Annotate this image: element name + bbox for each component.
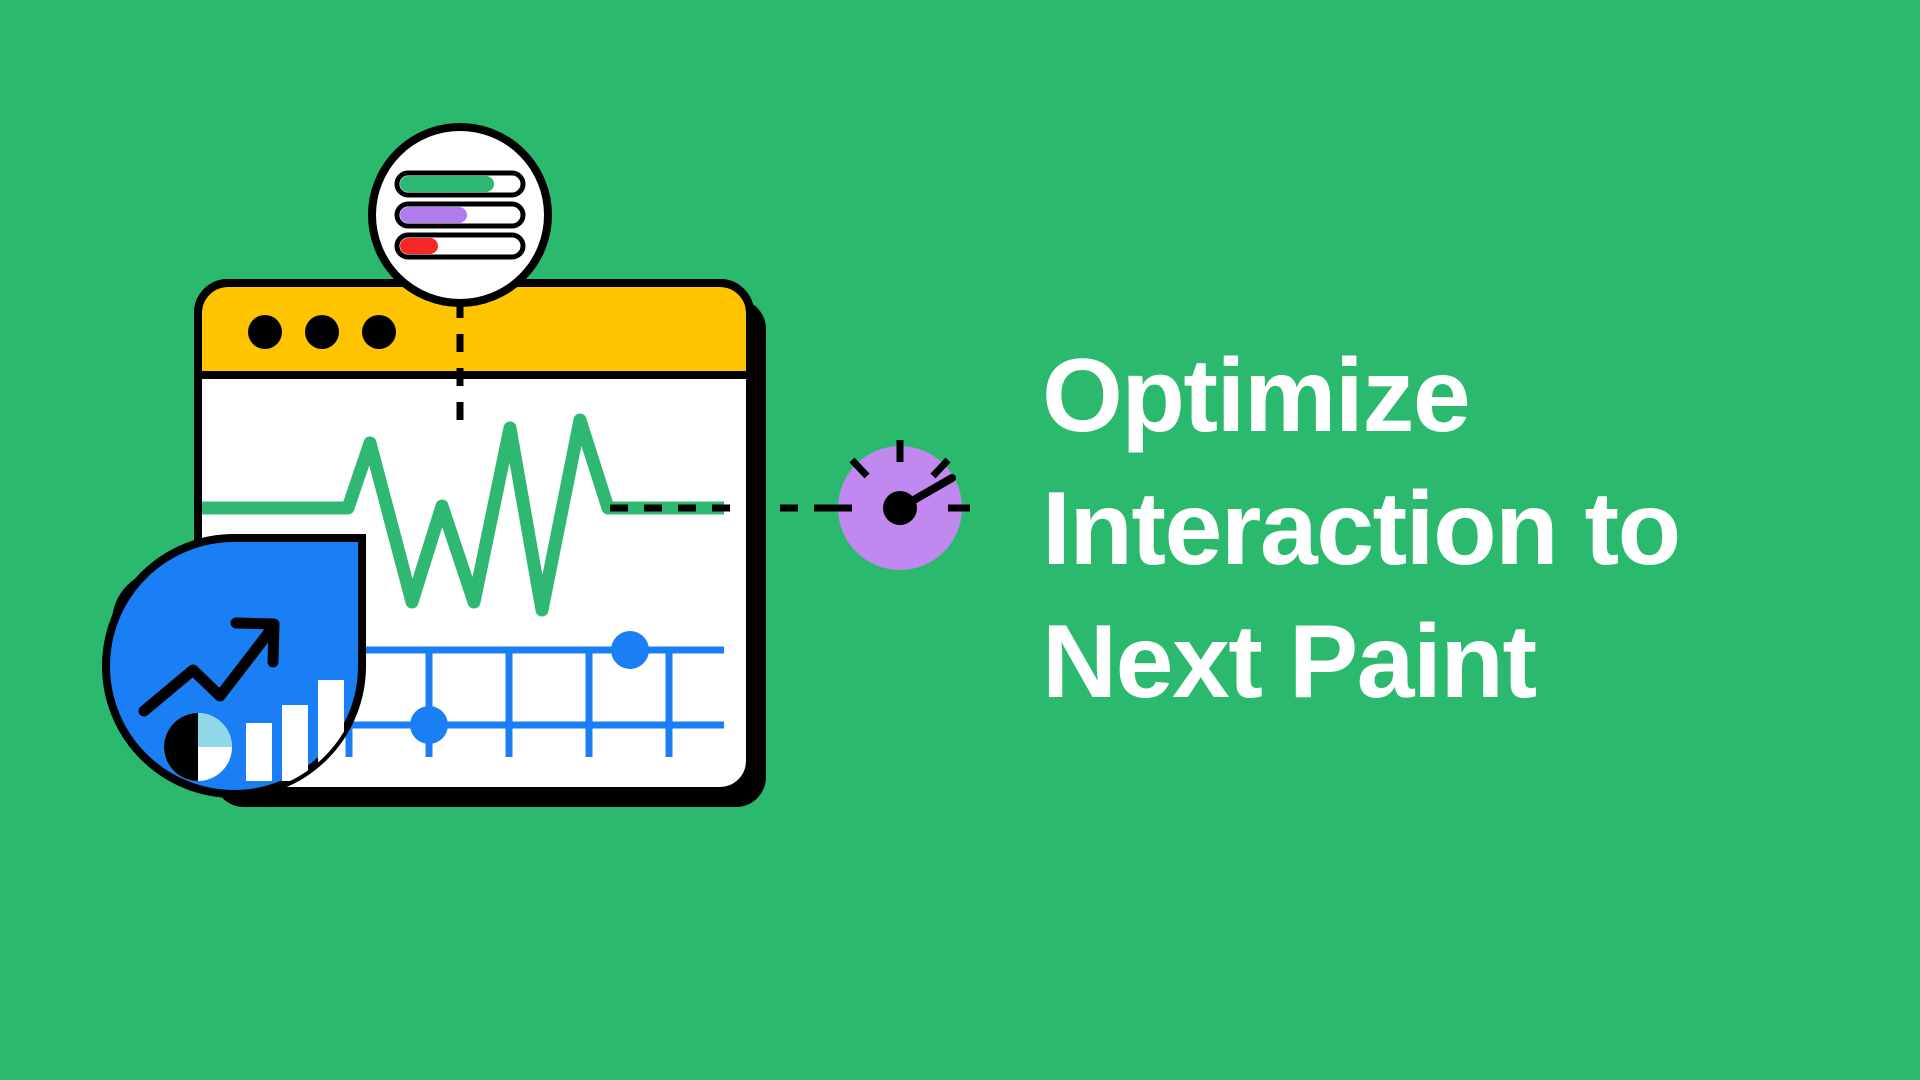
window-dot-3[interactable] <box>362 315 396 349</box>
window-dot-1[interactable] <box>248 315 282 349</box>
metric-bar-green-fill <box>400 176 494 192</box>
bar-chart-bar-2 <box>282 705 308 781</box>
metric-bar-red-fill <box>400 238 438 254</box>
page-root: Optimize Interaction to Next Paint <box>0 0 1920 1080</box>
page-title: Optimize Interaction to Next Paint <box>1042 330 1872 729</box>
metric-bar-green[interactable] <box>397 173 523 195</box>
headline-line-2: Interaction to <box>1042 463 1872 596</box>
pie-chart-icon <box>164 713 232 781</box>
metric-bar-purple[interactable] <box>397 204 523 226</box>
metric-bar-purple-fill <box>400 207 467 223</box>
window-dot-2[interactable] <box>305 315 339 349</box>
gauge-hub <box>883 491 917 525</box>
headline-line-1: Optimize <box>1042 330 1872 463</box>
grid-marker-1[interactable] <box>611 631 649 669</box>
speed-gauge-icon[interactable] <box>830 440 970 570</box>
metrics-badge-circle[interactable] <box>372 127 548 303</box>
grid-marker-2[interactable] <box>410 706 448 744</box>
analytics-shield-icon[interactable] <box>106 538 362 794</box>
performance-dashboard-illustration <box>60 110 1060 970</box>
headline-line-3: Next Paint <box>1042 596 1872 729</box>
metric-bar-red[interactable] <box>397 235 523 257</box>
illustration-svg <box>60 110 1060 970</box>
bar-chart-bar-1 <box>246 723 272 781</box>
